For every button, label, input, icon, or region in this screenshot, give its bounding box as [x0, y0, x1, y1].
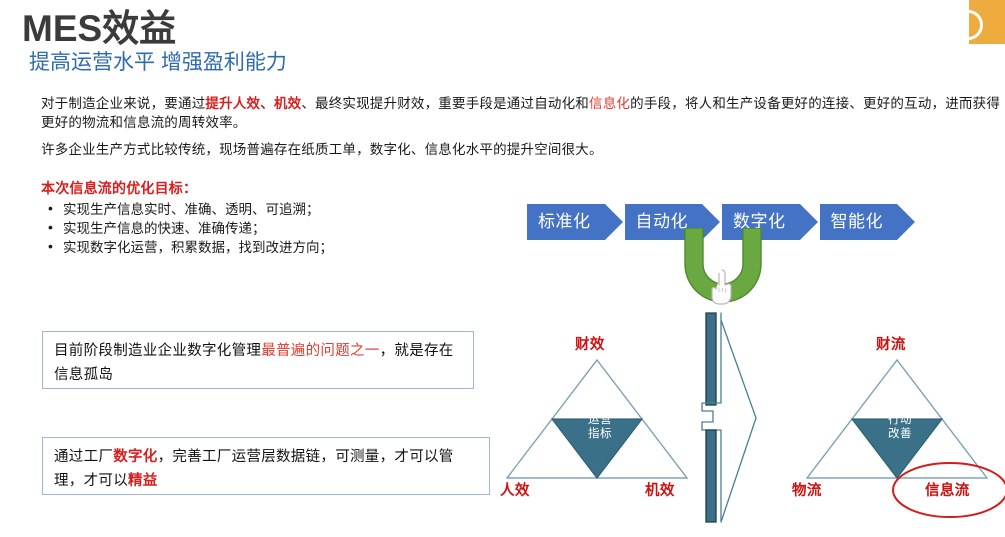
process-step-standardization[interactable]: 标准化	[527, 204, 605, 240]
triangle-left-top-label: 财效	[575, 333, 605, 354]
callout2-highlight-2: 精益	[128, 473, 158, 489]
pointing-hand-icon	[707, 268, 741, 306]
goals-list: 实现生产信息实时、准确、透明、可追溯； 实现生产信息的快速、准确传递； 实现数字…	[41, 200, 333, 257]
callout1-highlight: 最普遍的问题之一	[261, 343, 379, 359]
callout2-text-1: 通过工厂	[54, 449, 113, 465]
triangle-right-bottomright-label: 信息流	[925, 479, 970, 500]
triangle-right-center-line2: 改善	[865, 427, 935, 441]
triangle-right-center-line1: 行动	[865, 413, 935, 427]
list-item: 实现数字化运营，积累数据，找到改进方向；	[63, 238, 333, 257]
list-item: 实现生产信息的快速、准确传递；	[63, 219, 333, 238]
triangle-left-bottomright-label: 机效	[645, 479, 675, 500]
intro-paragraph: 对于制造企业来说，要通过提升人效、机效、最终实现提升财效，重要手段是通过自动化和…	[41, 94, 1001, 132]
secondary-paragraph: 许多企业生产方式比较传统，现场普遍存在纸质工单，数字化、信息化水平的提升空间很大…	[41, 140, 901, 159]
intro-highlight-2: 信息化	[589, 96, 630, 111]
list-item: 实现生产信息实时、准确、透明、可追溯；	[63, 200, 333, 219]
triangle-right-bottomleft-label: 物流	[792, 479, 822, 500]
callout1-text-1: 目前阶段制造业企业数字化管理	[54, 343, 261, 359]
triangle-left-center-line1: 运营	[565, 413, 635, 427]
intro-text-2: 、最终实现提升财效，重要手段是通过自动化和	[301, 96, 589, 111]
goals-heading: 本次信息流的优化目标：	[41, 178, 197, 198]
triangle-right-top-label: 财流	[876, 333, 906, 354]
triangle-left-center-label: 运营 指标	[565, 413, 635, 441]
callout-box-digitalization: 通过工厂数字化，完善工厂运营层数据链，可测量，才可以管理，才可以精益	[42, 437, 490, 495]
double-arrow-connector-icon	[700, 310, 780, 535]
callout2-highlight-1: 数字化	[113, 449, 157, 465]
slide-canvas: MES效益 提高运营水平 增强盈利能力 对于制造企业来说，要通过提升人效、机效、…	[0, 0, 1005, 537]
intro-text-1: 对于制造企业来说，要通过	[41, 96, 205, 111]
triangle-left-bottomleft-label: 人效	[500, 479, 530, 500]
callout-box-information-silo: 目前阶段制造业企业数字化管理最普遍的问题之一，就是存在信息孤岛	[42, 331, 474, 389]
triangle-left-center-line2: 指标	[565, 427, 635, 441]
process-step-label: 标准化	[538, 212, 591, 231]
intro-highlight-1: 提升人效、机效	[205, 96, 301, 111]
orange-swoosh-logo-icon	[969, 0, 1005, 44]
triangle-right-center-label: 行动 改善	[865, 413, 935, 441]
page-subtitle: 提高运营水平 增强盈利能力	[29, 46, 287, 76]
process-step-label: 智能化	[831, 212, 884, 231]
process-step-intelligence[interactable]: 智能化	[820, 204, 898, 240]
page-title: MES效益	[22, 0, 176, 52]
